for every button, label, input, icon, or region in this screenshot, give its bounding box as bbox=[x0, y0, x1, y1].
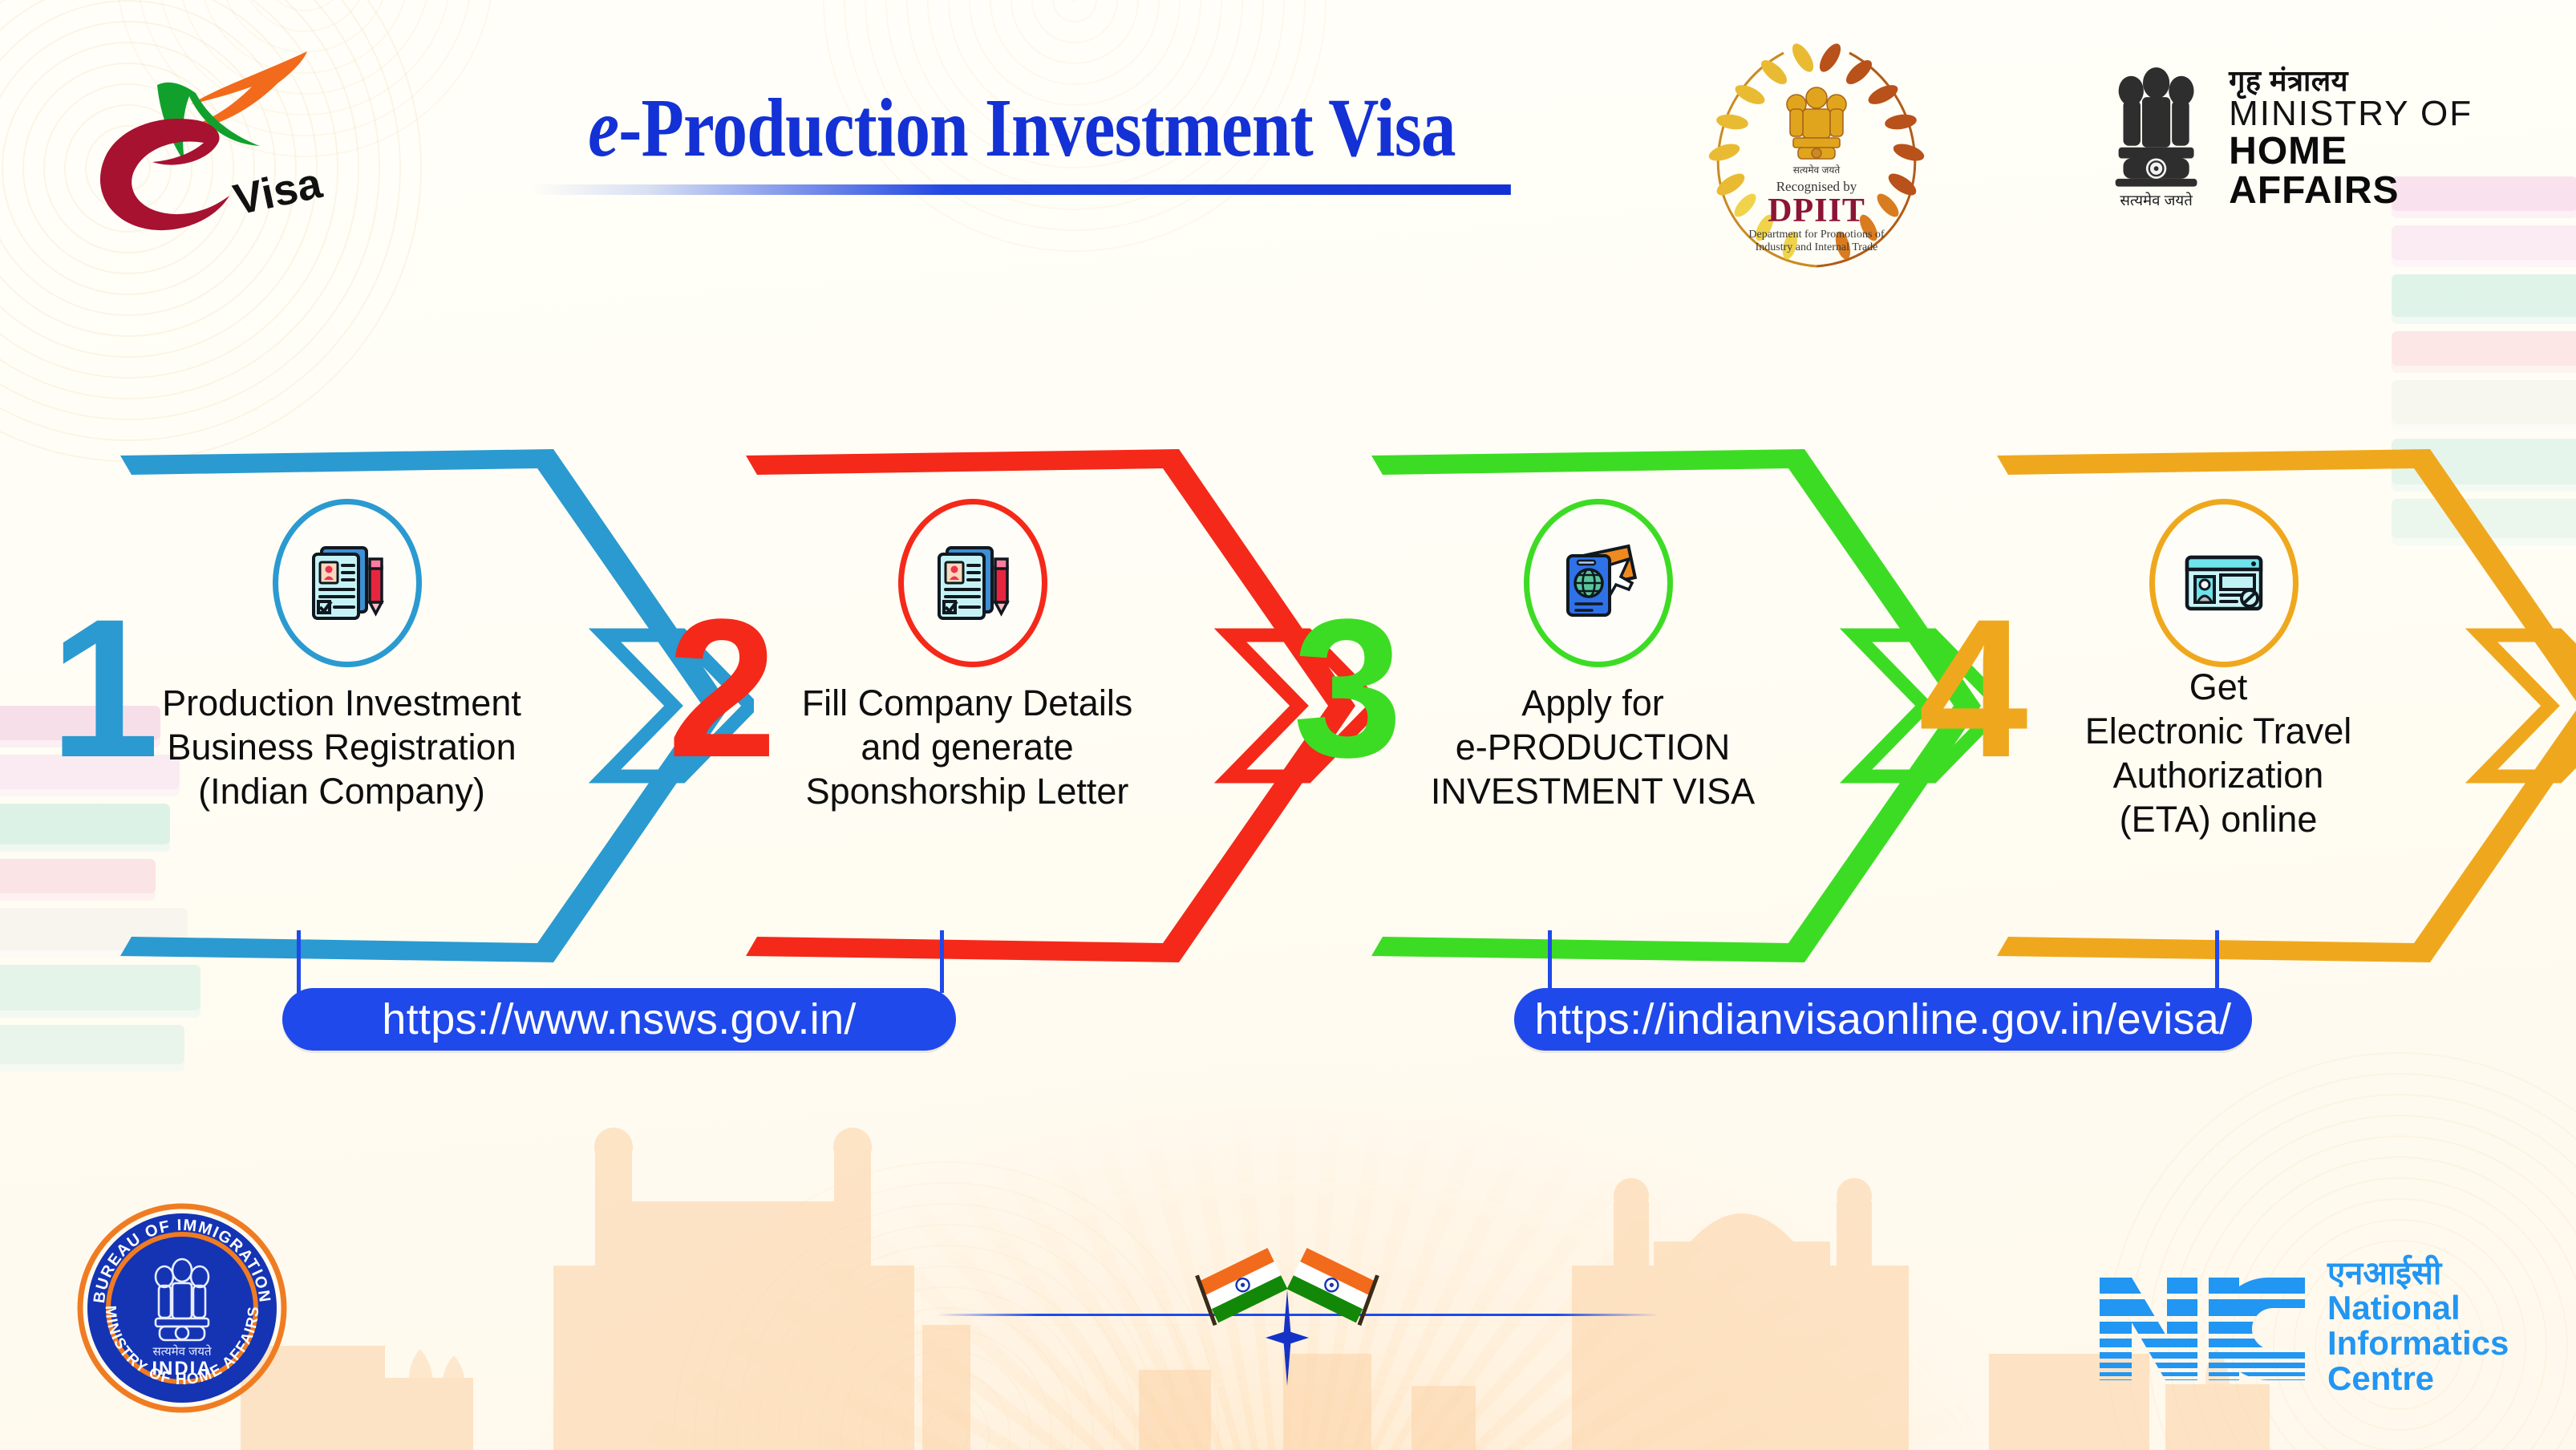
nic-line1: National bbox=[2327, 1290, 2509, 1326]
step-caption-line: Fill Company Details bbox=[759, 682, 1176, 726]
dpiit-logo: सत्यमेव जयते Recognised by DPIIT Departm… bbox=[1700, 32, 1933, 273]
mha-motto: सत्यमेव जयते bbox=[2120, 192, 2193, 209]
step-caption-line: Electronic Travel bbox=[2010, 710, 2427, 754]
step-caption-line: Get bbox=[2010, 666, 2427, 710]
step-caption-line: e-PRODUCTION bbox=[1384, 726, 1801, 770]
ashoka-emblem-icon bbox=[1787, 87, 1846, 159]
step-caption-line: Apply for bbox=[1384, 682, 1801, 726]
dpiit-acronym: DPIIT bbox=[1768, 192, 1865, 229]
link-pill-url: https://www.nsws.gov.in/ bbox=[382, 994, 856, 1044]
mha-hindi: गृह मंत्रालय bbox=[2229, 67, 2521, 96]
infographic-canvas: Visa e-Production Investment Visa bbox=[0, 0, 2576, 1450]
step-icon-badge bbox=[273, 499, 422, 667]
step-3[interactable]: 3 bbox=[1371, 449, 2005, 962]
pill-connector bbox=[940, 930, 944, 993]
dpiit-expansion-line2: Industry and Internal Trade bbox=[1756, 241, 1878, 253]
step-caption: Fill Company Details and generate Sponsh… bbox=[759, 682, 1176, 814]
evisa-wordmark: Visa bbox=[229, 159, 326, 225]
mha-wordmark: गृह मंत्रालय MINISTRY OF HOME AFFAIRS bbox=[2229, 67, 2521, 211]
step-caption: Apply for e-PRODUCTION INVESTMENT VISA bbox=[1384, 682, 1801, 814]
document-pencil-icon bbox=[301, 537, 394, 630]
nic-line2: Informatics bbox=[2327, 1326, 2509, 1361]
process-flow: 1 bbox=[0, 449, 2576, 962]
ministry-of-home-affairs-logo: सत्यमेव जयते गृह मंत्रालय MINISTRY OF HO… bbox=[2104, 47, 2521, 231]
e-letter-icon bbox=[100, 119, 229, 230]
page-title-rest: -Production Investment Visa bbox=[618, 82, 1455, 174]
dpiit-motto: सत्यमेव जयते bbox=[1793, 164, 1841, 176]
step-caption-line: and generate bbox=[759, 726, 1176, 770]
dpiit-expansion-line1: Department for Promotions of bbox=[1748, 229, 1884, 241]
step-caption: Get Electronic Travel Authorization (ETA… bbox=[2010, 666, 2427, 842]
bureau-of-immigration-logo: BUREAU OF IMMIGRATION MINISTRY OF HOME A… bbox=[77, 1203, 287, 1413]
step-caption-line: Authorization bbox=[2010, 754, 2427, 798]
nic-logo: एनआईसी National Informatics Centre bbox=[2095, 1241, 2512, 1412]
mha-line1: MINISTRY OF bbox=[2229, 96, 2521, 132]
nic-wordmark: एनआईसी National Informatics Centre bbox=[2327, 1258, 2509, 1396]
step-caption-line: Production Investment bbox=[133, 682, 550, 726]
mha-line2: HOME AFFAIRS bbox=[2229, 132, 2521, 211]
step-caption: Production Investment Business Registrat… bbox=[133, 682, 550, 814]
saffron-swoosh-icon bbox=[180, 51, 307, 130]
boi-center-text: INDIA bbox=[152, 1358, 212, 1379]
nic-hindi: एनआईसी bbox=[2327, 1258, 2509, 1291]
nic-line3: Centre bbox=[2327, 1361, 2509, 1396]
page-title: e-Production Investment Visa bbox=[516, 87, 1527, 170]
link-pill-indianvisaonline[interactable]: https://indianvisaonline.gov.in/evisa/ bbox=[1514, 988, 2252, 1051]
step-icon-badge bbox=[2149, 499, 2299, 667]
passport-ticket-icon bbox=[1552, 537, 1645, 630]
step-2[interactable]: 2 bbox=[746, 449, 1379, 962]
step-caption-line: Business Registration bbox=[133, 726, 550, 770]
boi-motto: सत्यमेव जयते bbox=[152, 1344, 211, 1359]
link-pill-nsws[interactable]: https://www.nsws.gov.in/ bbox=[282, 988, 956, 1051]
step-caption-line: INVESTMENT VISA bbox=[1384, 770, 1801, 814]
nic-mark-icon bbox=[2095, 1266, 2310, 1387]
pill-connector bbox=[2215, 930, 2219, 993]
pill-connector bbox=[1548, 930, 1552, 993]
link-pill-url: https://indianvisaonline.gov.in/evisa/ bbox=[1535, 994, 2232, 1044]
ashoka-emblem-icon: सत्यमेव जयते bbox=[2104, 55, 2208, 223]
evisa-logo: Visa bbox=[63, 34, 327, 242]
step-4[interactable]: 4 Get Elect bbox=[1997, 449, 2576, 962]
step-caption-line: (Indian Company) bbox=[133, 770, 550, 814]
step-icon-badge bbox=[1524, 499, 1673, 667]
step-1[interactable]: 1 bbox=[120, 449, 754, 962]
step-icon-badge bbox=[898, 499, 1047, 667]
step-caption-line: Sponshorship Letter bbox=[759, 770, 1176, 814]
title-underline bbox=[533, 184, 1511, 195]
id-card-icon bbox=[2177, 537, 2270, 630]
page-title-prefix: e bbox=[588, 82, 618, 174]
document-pencil-icon bbox=[926, 537, 1019, 630]
step-caption-line: (ETA) online bbox=[2010, 798, 2427, 842]
pill-connector bbox=[297, 930, 301, 993]
page-title-block: e-Production Investment Visa bbox=[420, 87, 1623, 195]
